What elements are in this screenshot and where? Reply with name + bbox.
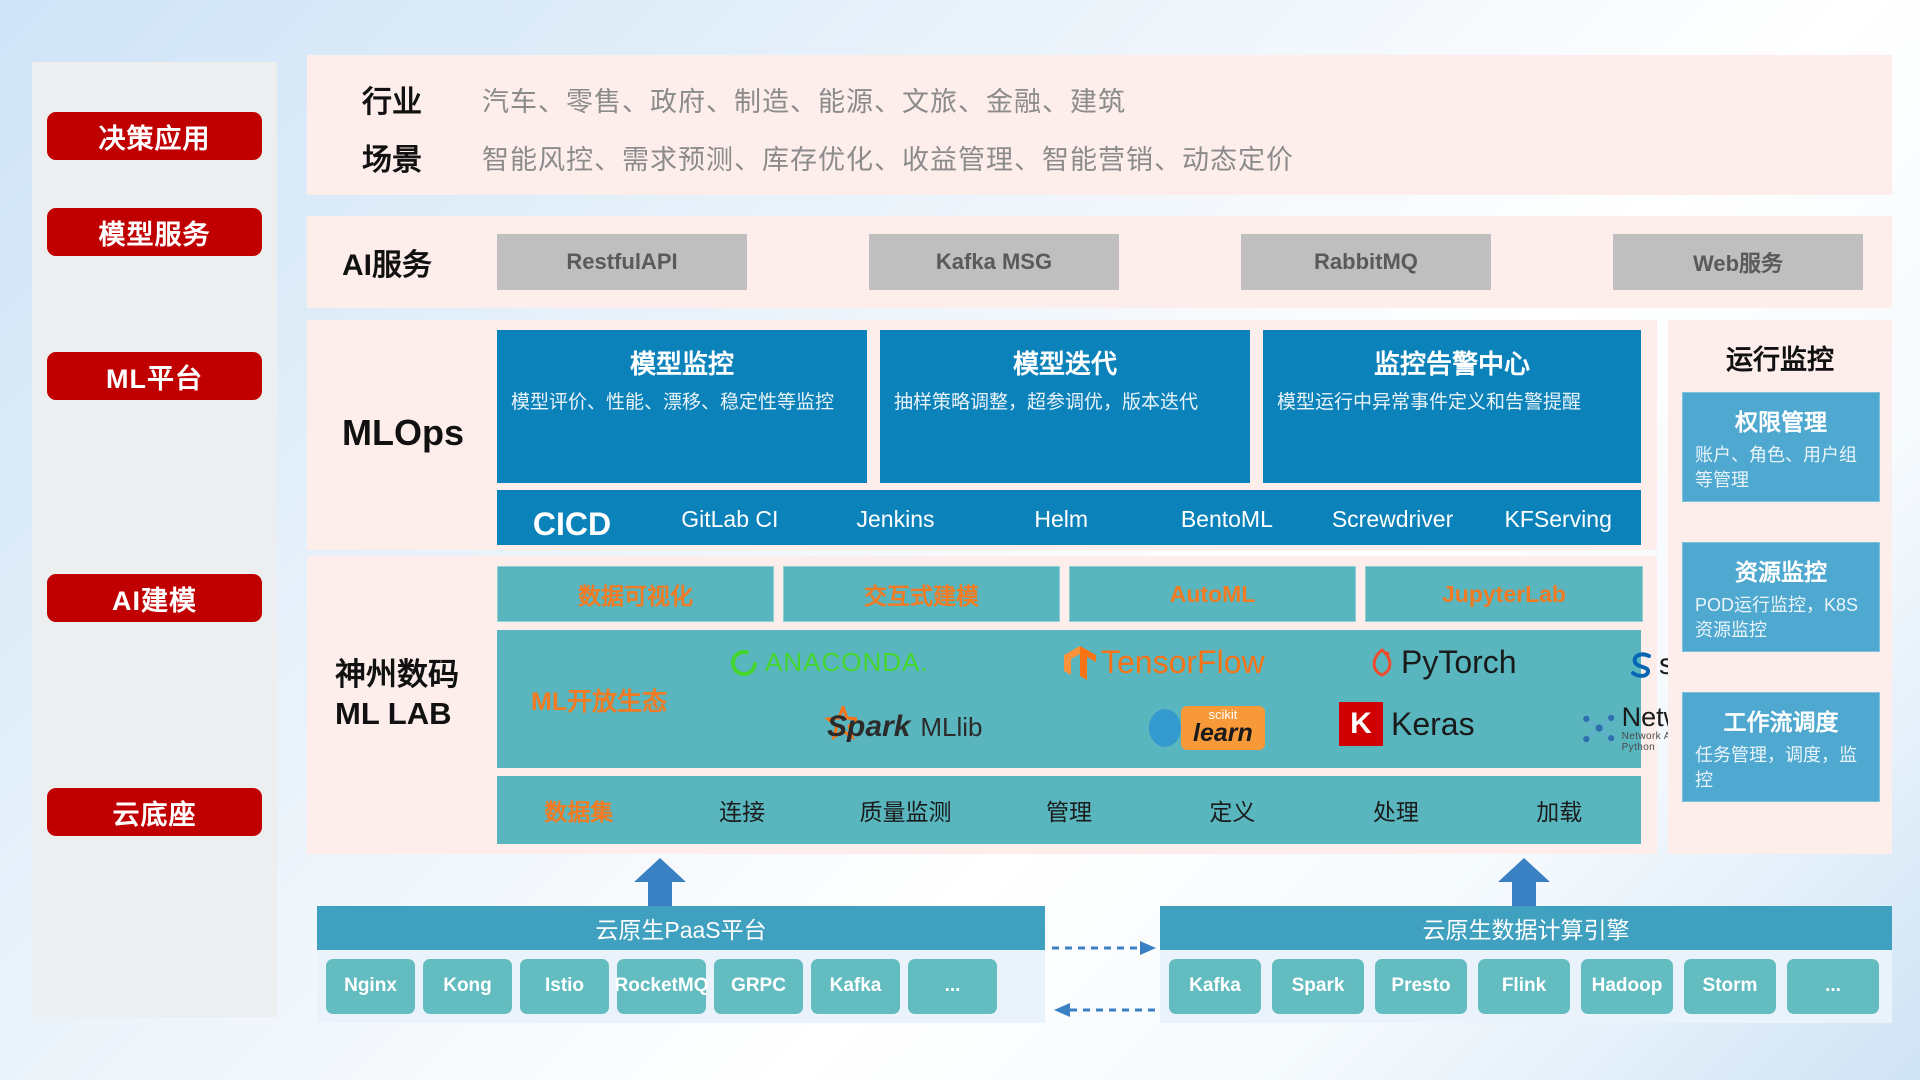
dataset-cell-quality[interactable]: 质量监测 <box>824 793 987 827</box>
cicd-tool-screwdriver[interactable]: Screwdriver <box>1310 490 1476 532</box>
paas-chip-rocketmq[interactable]: RocketMQ <box>617 959 706 1014</box>
service-chip-web-service[interactable]: Web服务 <box>1613 234 1863 290</box>
learn-label: learn <box>1193 721 1253 746</box>
dataset-cell-load[interactable]: 加载 <box>1478 793 1641 827</box>
cicd-tool-gitlab[interactable]: GitLab CI <box>647 490 813 532</box>
scikit-badge: scikit learn <box>1181 706 1265 750</box>
card-desc: 模型运行中异常事件定义和告警提醒 <box>1263 389 1641 417</box>
monitor-card-permission[interactable]: 权限管理 账户、角色、用户组等管理 <box>1682 392 1880 502</box>
dataset-cell-manage[interactable]: 管理 <box>987 793 1150 827</box>
arrow-right-dashed-icon <box>1052 938 1158 958</box>
ai-service-label: AI服务 <box>342 236 492 288</box>
scenario-row: 场景 智能风控、需求预测、库存优化、收益管理、智能营销、动态定价 <box>362 135 1294 179</box>
paas-chip-istio[interactable]: Istio <box>520 959 609 1014</box>
sas-icon <box>1625 650 1657 680</box>
tab-label: AutoML <box>1170 581 1256 608</box>
dataset-cell-define[interactable]: 定义 <box>1151 793 1314 827</box>
paas-chip-nginx[interactable]: Nginx <box>326 959 415 1014</box>
arrow-up-data-engine-icon <box>1494 858 1554 906</box>
tab-jupyterlab[interactable]: JupyterLab <box>1365 566 1643 622</box>
engine-chip-storm[interactable]: Storm <box>1684 959 1776 1014</box>
dataset-cell-process[interactable]: 处理 <box>1314 793 1477 827</box>
engine-chip-more[interactable]: ... <box>1787 959 1879 1014</box>
card-title: 模型迭代 <box>880 330 1250 389</box>
card-title: 模型监控 <box>497 330 867 389</box>
rail-item-cloud-base[interactable]: 云底座 <box>47 788 262 836</box>
tensorflow-label: TensorFlow <box>1101 644 1265 681</box>
monitor-card-workflow[interactable]: 工作流调度 任务管理，调度，监控 <box>1682 692 1880 802</box>
architecture-diagram: 决策应用 模型服务 ML平台 AI建模 云底座 行业 汽车、零售、政府、制造、能… <box>0 0 1920 1080</box>
card-desc: 抽样策略调整，超参调优，版本迭代 <box>880 389 1250 417</box>
mllib-label: MLlib <box>920 712 982 743</box>
service-chip-restfulapi[interactable]: RestfulAPI <box>497 234 747 290</box>
monitor-card-resource[interactable]: 资源监控 POD运行监控，K8S资源监控 <box>1682 542 1880 652</box>
card-title: 权限管理 <box>1683 393 1879 443</box>
tab-interactive-modeling[interactable]: 交互式建模 <box>783 566 1060 622</box>
mlops-panel: MLOps 模型监控 模型评价、性能、漂移、稳定性等监控 模型迭代 抽样策略调整… <box>307 320 1657 550</box>
dataset-row[interactable]: 数据集 连接 质量监测 管理 定义 处理 加载 <box>497 776 1641 844</box>
engine-chip-presto[interactable]: Presto <box>1375 959 1467 1014</box>
monitoring-panel: 运行监控 权限管理 账户、角色、用户组等管理 资源监控 POD运行监控，K8S资… <box>1668 320 1892 854</box>
tab-label: JupyterLab <box>1442 581 1566 608</box>
industry-label: 行业 <box>362 77 482 121</box>
ml-lab-label-line2: ML LAB <box>335 695 515 734</box>
anaconda-icon <box>729 648 759 678</box>
layer-rail: 决策应用 模型服务 ML平台 AI建模 云底座 <box>32 62 277 1017</box>
pytorch-icon <box>1367 646 1397 680</box>
cicd-title: CICD <box>497 490 647 543</box>
networkx-icon <box>1579 708 1618 750</box>
rail-item-label: 云底座 <box>113 793 197 832</box>
engine-chip-hadoop[interactable]: Hadoop <box>1581 959 1673 1014</box>
ai-service-panel: AI服务 RestfulAPI Kafka MSG RabbitMQ Web服务 <box>307 216 1892 308</box>
cicd-tool-helm[interactable]: Helm <box>978 490 1144 532</box>
scikit-learn-logo: scikit learn <box>1145 706 1265 750</box>
card-desc: 模型评价、性能、漂移、稳定性等监控 <box>497 389 867 417</box>
service-chip-label: Kafka MSG <box>936 249 1052 275</box>
tab-label: 数据可视化 <box>578 577 693 611</box>
engine-chip-spark[interactable]: Spark <box>1272 959 1364 1014</box>
data-engine-header: 云原生数据计算引擎 <box>1160 906 1892 950</box>
tensorflow-logo: TensorFlow <box>1063 644 1265 681</box>
mlops-card-alert-center[interactable]: 监控告警中心 模型运行中异常事件定义和告警提醒 <box>1263 330 1641 483</box>
rail-item-label: AI建模 <box>112 579 197 618</box>
ml-ecosystem-box: ML开放生态 ANACONDA. TensorFlow <box>497 630 1641 768</box>
card-title: 资源监控 <box>1683 543 1879 593</box>
paas-header: 云原生PaaS平台 <box>317 906 1045 950</box>
engine-chip-flink[interactable]: Flink <box>1478 959 1570 1014</box>
cicd-tool-jenkins[interactable]: Jenkins <box>813 490 979 532</box>
mlops-label: MLOps <box>342 405 522 460</box>
industry-scenario-panel: 行业 汽车、零售、政府、制造、能源、文旅、金融、建筑 场景 智能风控、需求预测、… <box>307 55 1892 195</box>
card-title: 工作流调度 <box>1683 693 1879 743</box>
pytorch-logo: PyTorch <box>1367 644 1517 681</box>
rail-item-label: ML平台 <box>106 357 203 396</box>
keras-label: Keras <box>1391 706 1475 743</box>
spark-mllib-logo: Spark MLlib <box>817 706 983 748</box>
keras-logo: K Keras <box>1339 702 1475 746</box>
paas-chip-grpc[interactable]: GRPC <box>714 959 803 1014</box>
ml-lab-panel: 神州数码 ML LAB 数据可视化 交互式建模 AutoML JupyterLa… <box>307 556 1657 854</box>
rail-item-ml-platform[interactable]: ML平台 <box>47 352 262 400</box>
cicd-tool-bentoml[interactable]: BentoML <box>1144 490 1310 532</box>
cicd-tool-kfserving[interactable]: KFServing <box>1475 490 1641 532</box>
mlops-card-model-iteration[interactable]: 模型迭代 抽样策略调整，超参调优，版本迭代 <box>880 330 1250 483</box>
arrow-left-dashed-icon <box>1052 1000 1158 1020</box>
tab-label: 交互式建模 <box>864 577 979 611</box>
card-desc: 任务管理，调度，监控 <box>1683 743 1879 793</box>
paas-chip-kong[interactable]: Kong <box>423 959 512 1014</box>
service-chip-label: Web服务 <box>1693 246 1783 278</box>
anaconda-logo: ANACONDA. <box>729 647 929 678</box>
dataset-cell-connect[interactable]: 连接 <box>660 793 823 827</box>
tab-data-visualization[interactable]: 数据可视化 <box>497 566 774 622</box>
data-engine-box: 云原生数据计算引擎 Kafka Spark Presto Flink Hadoo… <box>1160 906 1892 1023</box>
service-chip-rabbitmq[interactable]: RabbitMQ <box>1241 234 1491 290</box>
cicd-bar[interactable]: CICD GitLab CI Jenkins Helm BentoML Scre… <box>497 490 1641 545</box>
scenario-label: 场景 <box>362 135 482 179</box>
rail-item-model-service[interactable]: 模型服务 <box>47 208 262 256</box>
paas-chip-kafka[interactable]: Kafka <box>811 959 900 1014</box>
engine-chip-kafka[interactable]: Kafka <box>1169 959 1261 1014</box>
dataset-label: 数据集 <box>497 793 660 827</box>
service-chip-label: RabbitMQ <box>1314 249 1418 275</box>
pytorch-label: PyTorch <box>1401 644 1517 681</box>
rail-item-decision[interactable]: 决策应用 <box>47 112 262 160</box>
service-chip-kafka-msg[interactable]: Kafka MSG <box>869 234 1119 290</box>
card-title: 监控告警中心 <box>1263 330 1641 389</box>
spark-label: Spark <box>827 710 910 744</box>
paas-box: 云原生PaaS平台 Nginx Kong Istio RocketMQ GRPC… <box>317 906 1045 1023</box>
monitoring-title: 运行监控 <box>1668 338 1892 377</box>
rail-item-label: 决策应用 <box>99 117 211 156</box>
industry-row: 行业 汽车、零售、政府、制造、能源、文旅、金融、建筑 <box>362 77 1126 121</box>
ml-lab-label: 神州数码 ML LAB <box>335 656 515 734</box>
card-desc: 账户、角色、用户组等管理 <box>1683 443 1879 493</box>
ml-ecosystem-label: ML开放生态 <box>531 682 667 718</box>
industry-value: 汽车、零售、政府、制造、能源、文旅、金融、建筑 <box>482 80 1126 119</box>
tab-automl[interactable]: AutoML <box>1069 566 1356 622</box>
mlops-card-model-monitor[interactable]: 模型监控 模型评价、性能、漂移、稳定性等监控 <box>497 330 867 483</box>
arrow-up-paas-icon <box>630 858 690 906</box>
rail-item-label: 模型服务 <box>99 213 211 252</box>
rail-item-ai-modeling[interactable]: AI建模 <box>47 574 262 622</box>
anaconda-label: ANACONDA. <box>765 647 929 678</box>
card-desc: POD运行监控，K8S资源监控 <box>1683 593 1879 643</box>
keras-icon: K <box>1339 702 1383 746</box>
scenario-value: 智能风控、需求预测、库存优化、收益管理、智能营销、动态定价 <box>482 138 1294 177</box>
paas-chip-more[interactable]: ... <box>908 959 997 1014</box>
ml-lab-label-line1: 神州数码 <box>335 656 515 695</box>
service-chip-label: RestfulAPI <box>566 249 677 275</box>
tensorflow-icon <box>1063 645 1097 681</box>
